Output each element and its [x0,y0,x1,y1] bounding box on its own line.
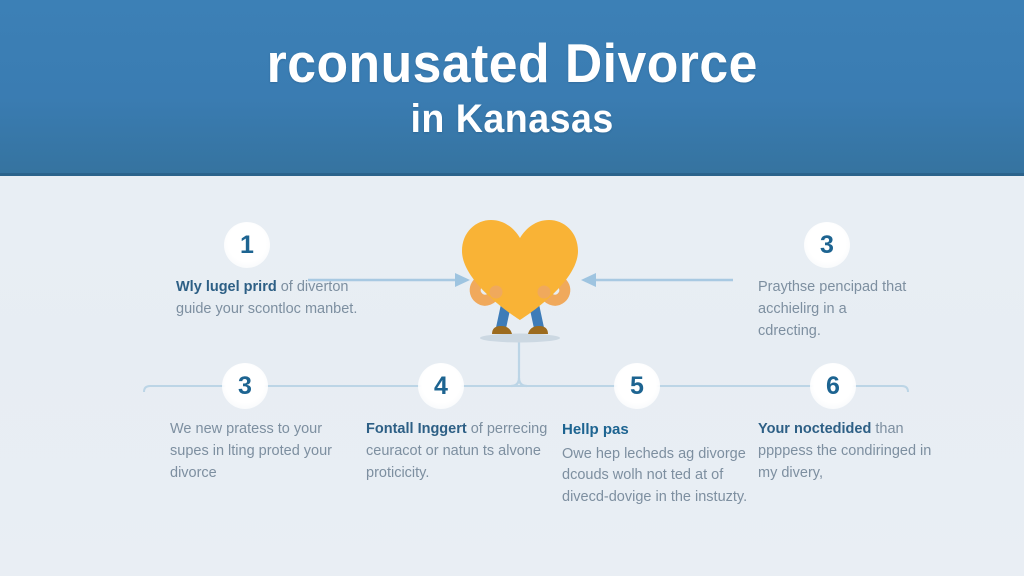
header-banner: rconusated Divorce in Kanasas [0,0,1024,176]
step-text-2: Praythse pencipad that acchielirg in a c… [758,277,908,342]
mascot-right-hand [538,286,551,299]
step-number-4: 4 [434,374,448,399]
step-text-3: We new pratess to your supes in lting pr… [170,419,360,484]
page-subtitle: in Kanasas [410,97,613,141]
step-lead-6: Your [758,421,794,437]
mascot-left-shoe [492,326,512,334]
step-number-2: 3 [820,233,834,258]
step-bold-4: Inggert [418,421,467,437]
step-number-badge-2: 3 [804,222,850,268]
arrow-right-to-center [581,273,733,287]
step-number-badge-3: 3 [222,363,268,409]
step-number-badge-6: 6 [810,363,856,409]
step-rest-3: We new pratess to your supes in lting pr… [170,421,332,481]
step-rest-2: Praythse pencipad that acchielirg in a c… [758,279,906,339]
step-bold-1: lugel prird [206,279,277,295]
mascot-platform [480,334,560,343]
step-number-3: 3 [238,374,252,399]
step-lead-1: Wly [176,279,202,295]
step-text-4: Fontall Inggert of perrecing ceuracot or… [366,419,556,484]
mascot-left-hand [490,286,503,299]
step-number-1: 1 [240,233,254,258]
step-number-6: 6 [826,374,840,399]
step-number-badge-5: 5 [614,363,660,409]
step-heading-5: Hellp pas [562,419,752,442]
step-rest-5: Owe hep lecheds ag divorge dcouds wolh n… [562,446,747,506]
step-number-badge-4: 4 [418,363,464,409]
step-bold-6: noctedided [794,421,871,437]
mascot-heart-body [462,220,578,320]
page-title: rconusated Divorce [266,35,757,91]
infographic-canvas: rconusated Divorce in Kanasas [0,0,1024,576]
step-text-1: Wly lugel prird of diverton guide your s… [176,277,366,321]
mascot-right-shoe [528,326,548,334]
step-number-5: 5 [630,374,644,399]
step-number-badge-1: 1 [224,222,270,268]
heart-character-mascot [446,204,594,352]
step-lead-4: Fontall [366,421,418,437]
step-text-6: Your noctedided than ppppess the condiri… [758,419,948,484]
step-text-5: Hellp pas Owe hep lecheds ag divorge dco… [562,419,752,509]
